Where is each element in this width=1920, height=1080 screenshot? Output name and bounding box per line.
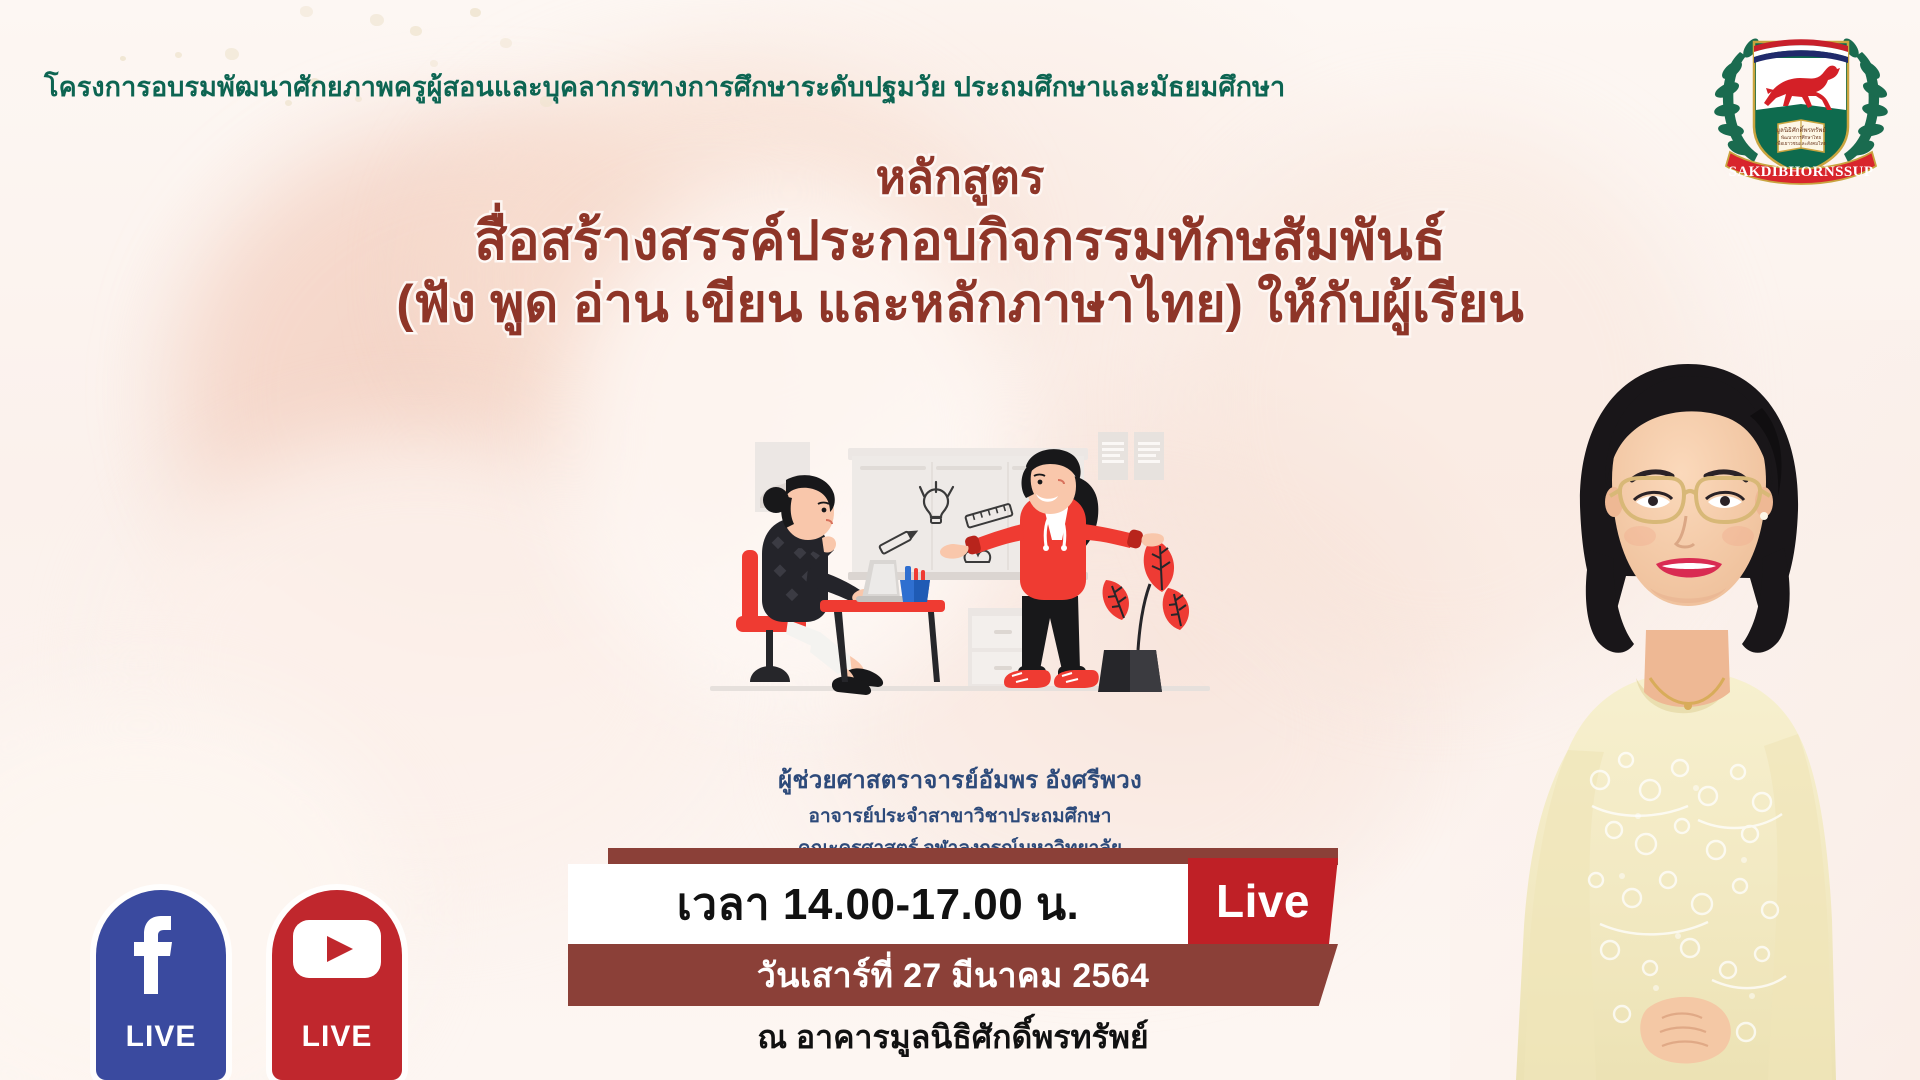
- hands: [1640, 997, 1731, 1064]
- decorative-dot: [175, 52, 182, 58]
- poster-title-block: หลักสูตร สื่อสร้างสรรค์ประกอบกิจกรรมทักษ…: [0, 150, 1920, 335]
- potted-plant: [1098, 538, 1189, 692]
- decorative-dot: [500, 38, 512, 48]
- youtube-live-label: LIVE: [302, 1020, 373, 1054]
- youtube-icon: [291, 916, 383, 982]
- decorative-dot: [410, 26, 422, 36]
- ribbon-text: SAKDIBHORNSSUP: [1729, 164, 1874, 180]
- decorative-dot: [470, 8, 481, 17]
- time-text: เวลา 14.00-17.00 น.: [677, 869, 1080, 939]
- youtube-live-badge[interactable]: LIVE: [272, 890, 402, 1080]
- title-line-1: หลักสูตร: [0, 150, 1920, 204]
- speaker-portrait-photo: [1450, 320, 1920, 1080]
- facebook-icon: [128, 916, 194, 1002]
- decorative-dot: [300, 6, 313, 17]
- poster-canvas: โครงการอบรมพัฒนาศักยภาพครูผู้สอนและบุคลา…: [0, 0, 1920, 1080]
- book-line-1: มูลนิธิศักดิ์พรทรัพย์: [1776, 125, 1826, 134]
- speaker-name: ผู้ช่วยศาสตราจารย์อัมพร อังศรีพวง: [560, 760, 1360, 799]
- date-text: วันเสาร์ที่ 27 มีนาคม 2564: [757, 948, 1149, 1002]
- title-line-2: สื่อสร้างสรรค์ประกอบกิจกรรมทักษสัมพันธ์: [0, 210, 1920, 274]
- book-line-3: เพื่อเยาวชนและสังคมไทย: [1776, 140, 1827, 146]
- book-line-2: พัฒนาการศึกษาไทย: [1781, 134, 1821, 140]
- header-band: โครงการอบรมพัฒนาศักยภาพครูผู้สอนและบุคลา…: [0, 60, 1920, 112]
- sakdibhornssup-crest-logo: มูลนิธิศักดิ์พรทรัพย์ พัฒนาการศึกษาไทย เ…: [1696, 6, 1906, 196]
- speaker-role: อาจารย์ประจำสาขาวิชาประถมศึกษา: [560, 801, 1360, 831]
- facebook-live-badge[interactable]: LIVE: [96, 890, 226, 1080]
- header-title: โครงการอบรมพัฒนาศักยภาพครูผู้สอนและบุคลา…: [0, 65, 1285, 108]
- social-live-badges: LIVE LIVE: [96, 890, 416, 1080]
- decorative-dot: [370, 14, 384, 26]
- live-badge-label: Live: [1216, 874, 1310, 928]
- live-badge: Live: [1188, 858, 1338, 944]
- time-box: เวลา 14.00-17.00 น.: [568, 864, 1188, 944]
- two-women-office-illustration: [700, 420, 1220, 750]
- venue-text: ณ อาคารมูลนิธิศักดิ์พรทรัพย์: [568, 1012, 1338, 1063]
- decorative-dot: [225, 48, 239, 60]
- earring: [1760, 512, 1768, 520]
- facebook-live-label: LIVE: [126, 1020, 197, 1054]
- date-bar: วันเสาร์ที่ 27 มีนาคม 2564: [568, 944, 1338, 1006]
